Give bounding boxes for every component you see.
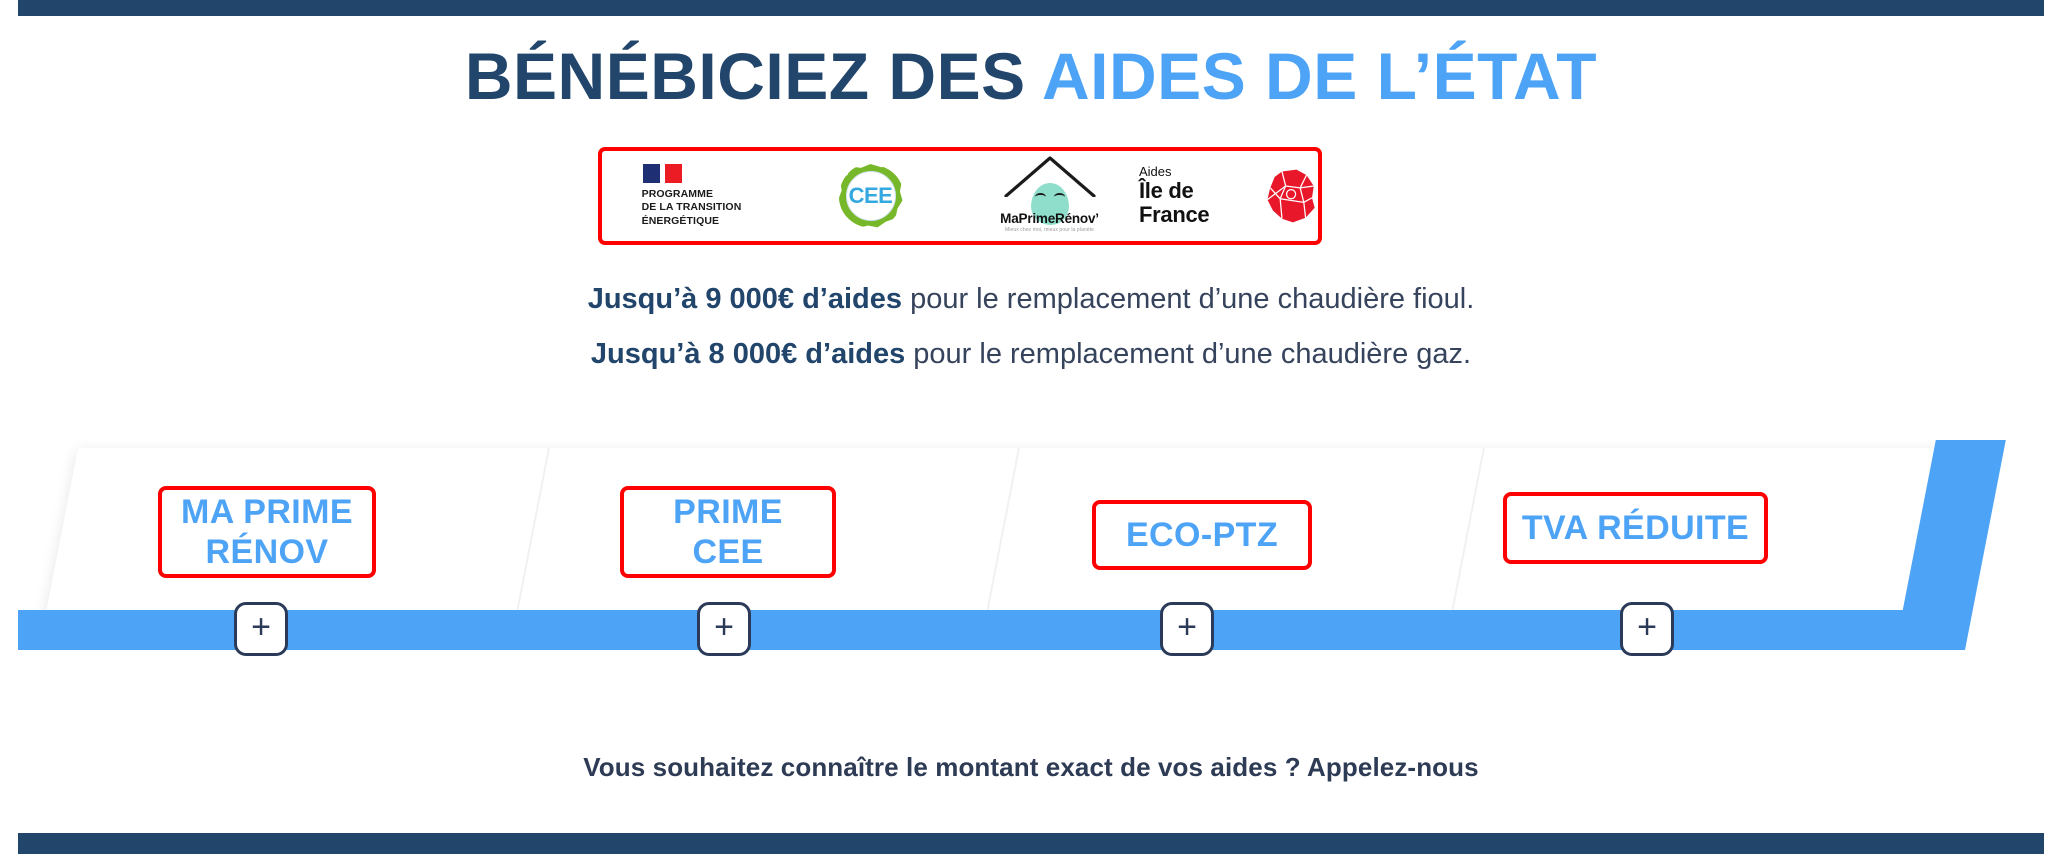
aid-badge-tva-reduite[interactable]: TVA RÉDUITE: [1503, 492, 1768, 564]
band-panel-divider: [512, 448, 550, 633]
logo-idf-big-label: Île de France: [1139, 179, 1258, 227]
partner-logos-strip: PROGRAMME DE LA TRANSITION ÉNERGÉTIQUE C…: [598, 147, 1322, 245]
logo-aides-ile-de-france: Aides Île de France: [1139, 151, 1318, 241]
top-divider-bar: [18, 0, 2044, 16]
logo-cee: CEE: [781, 151, 960, 241]
expand-button-prime-cee[interactable]: +: [697, 602, 751, 656]
french-flag-icon: [643, 164, 682, 183]
bottom-divider-bar: [18, 833, 2044, 854]
band-panel-divider: [982, 448, 1020, 633]
ile-de-france-map-icon: [1262, 165, 1318, 227]
expand-button-eco-ptz[interactable]: +: [1160, 602, 1214, 656]
aid-badge-prime-cee[interactable]: PRIME CEE: [620, 486, 836, 578]
aid-badge-ma-prime-renov[interactable]: MA PRIME RÉNOV: [158, 486, 376, 578]
aid-line-fioul: Jusqu’à 9 000€ d’aides pour le remplacem…: [0, 285, 2062, 314]
page-title: BÉNÉBICIEZ DES AIDES DE L’ÉTAT: [0, 42, 2062, 111]
expand-button-ma-prime-renov[interactable]: +: [234, 602, 288, 656]
aid-amount-lines: Jusqu’à 9 000€ d’aides pour le remplacem…: [0, 285, 2062, 395]
aid-line-gaz-rest: pour le remplacement d’une chaudière gaz…: [905, 338, 1471, 370]
contact-cta-text: Vous souhaitez connaître le montant exac…: [0, 752, 2062, 783]
band-panel-divider: [1447, 448, 1485, 633]
logo-cee-label: CEE: [849, 183, 893, 209]
logo-idf-small-label: Aides: [1139, 165, 1258, 179]
aid-line-gaz-amount: Jusqu’à 8 000€ d’aides: [591, 338, 905, 370]
logo-programme-transition-energetique: PROGRAMME DE LA TRANSITION ÉNERGÉTIQUE: [602, 151, 781, 241]
logo-maprimerenov-tagline: Mieux chez moi, mieux pour la planète: [990, 227, 1110, 233]
logo-maprimerenov-label: MaPrimeRénov’: [990, 211, 1110, 226]
aid-badge-eco-ptz[interactable]: ECO-PTZ: [1092, 500, 1312, 570]
smile-eyes-icon: [1035, 193, 1065, 201]
page-title-dark-part: BÉNÉBICIEZ DES: [465, 39, 1042, 113]
page-title-light-part: AIDES DE L’ÉTAT: [1042, 39, 1597, 113]
expand-button-tva-reduite[interactable]: +: [1620, 602, 1674, 656]
logo-maprimerenov: MaPrimeRénov’ Mieux chez moi, mieux pour…: [960, 151, 1139, 241]
cee-badge-icon: CEE: [839, 164, 903, 228]
aid-line-gaz: Jusqu’à 8 000€ d’aides pour le remplacem…: [0, 340, 2062, 369]
aid-line-fioul-rest: pour le remplacement d’une chaudière fio…: [902, 283, 1474, 315]
aid-line-fioul-amount: Jusqu’à 9 000€ d’aides: [588, 283, 902, 315]
logo-programme-label: PROGRAMME DE LA TRANSITION ÉNERGÉTIQUE: [642, 188, 742, 227]
